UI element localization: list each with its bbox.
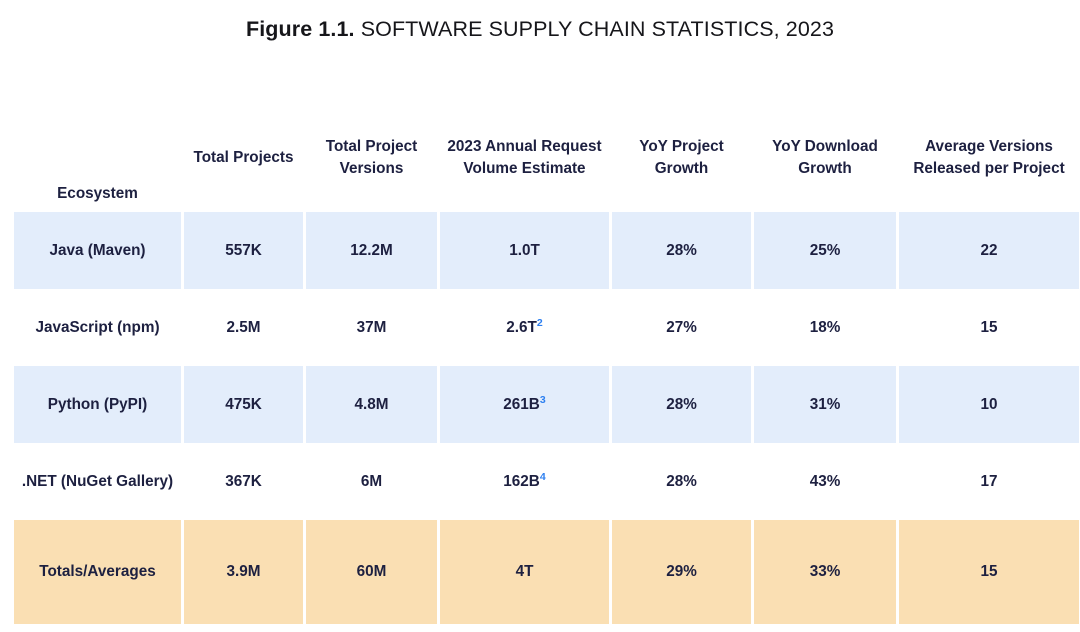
cell-yoy-download-growth: 31% (754, 366, 896, 443)
cell-request-volume-value: 4T (516, 563, 534, 580)
cell-request-volume: 1.0T (440, 212, 609, 289)
column-header-total-projects: Total Projects (184, 104, 303, 212)
figure-caption: SOFTWARE SUPPLY CHAIN STATISTICS, 2023 (361, 17, 834, 41)
cell-total-projects: 367K (184, 443, 303, 520)
cell-total-projects: 3.9M (184, 520, 303, 624)
table-row: Java (Maven) 557K 12.2M 1.0T 28% 25% 22 (14, 212, 1079, 289)
cell-yoy-download-growth: 33% (754, 520, 896, 624)
cell-request-volume: 162B4 (440, 443, 609, 520)
cell-request-volume: 2.6T2 (440, 289, 609, 366)
cell-ecosystem: Java (Maven) (14, 212, 181, 289)
cell-ecosystem: JavaScript (npm) (14, 289, 181, 366)
table-body: Java (Maven) 557K 12.2M 1.0T 28% 25% 22 … (14, 212, 1079, 624)
table-row: Python (PyPI) 475K 4.8M 261B3 28% 31% 10 (14, 366, 1079, 443)
cell-avg-versions-per-project: 15 (899, 520, 1079, 624)
table-header: Ecosystem Total Projects Total Project V… (14, 104, 1079, 212)
cell-yoy-download-growth: 43% (754, 443, 896, 520)
cell-request-volume-value: 2.6T (506, 319, 537, 336)
cell-total-project-versions: 4.8M (306, 366, 437, 443)
cell-avg-versions-per-project: 17 (899, 443, 1079, 520)
cell-total-project-versions: 60M (306, 520, 437, 624)
figure-title: Figure 1.1. SOFTWARE SUPPLY CHAIN STATIS… (0, 0, 1080, 42)
cell-total-projects: 2.5M (184, 289, 303, 366)
column-header-yoy-download-growth: YoY Download Growth (754, 104, 896, 212)
cell-total-project-versions: 12.2M (306, 212, 437, 289)
column-header-avg-versions-per-project: Average Versions Released per Project (899, 104, 1079, 212)
table-row-totals: Totals/Averages 3.9M 60M 4T 29% 33% 15 (14, 520, 1079, 624)
column-header-total-project-versions: Total Project Versions (306, 104, 437, 212)
column-header-request-volume-estimate: 2023 Annual Request Volume Estimate (440, 104, 609, 212)
cell-ecosystem: .NET (NuGet Gallery) (14, 443, 181, 520)
column-header-yoy-project-growth: YoY Project Growth (612, 104, 751, 212)
cell-request-volume-value: 261B (503, 396, 540, 413)
software-supply-chain-statistics-table: Ecosystem Total Projects Total Project V… (11, 104, 1080, 624)
table-row: .NET (NuGet Gallery) 367K 6M 162B4 28% 4… (14, 443, 1079, 520)
cell-yoy-project-growth: 29% (612, 520, 751, 624)
footnote-marker: 3 (540, 394, 546, 406)
cell-yoy-project-growth: 28% (612, 366, 751, 443)
table-row: JavaScript (npm) 2.5M 37M 2.6T2 27% 18% … (14, 289, 1079, 366)
footnote-marker: 4 (540, 471, 546, 483)
cell-yoy-project-growth: 27% (612, 289, 751, 366)
cell-avg-versions-per-project: 15 (899, 289, 1079, 366)
table-header-row: Ecosystem Total Projects Total Project V… (14, 104, 1079, 212)
cell-request-volume-value: 1.0T (509, 242, 540, 259)
cell-yoy-download-growth: 25% (754, 212, 896, 289)
cell-yoy-project-growth: 28% (612, 443, 751, 520)
cell-avg-versions-per-project: 22 (899, 212, 1079, 289)
cell-ecosystem: Totals/Averages (14, 520, 181, 624)
cell-total-projects: 557K (184, 212, 303, 289)
statistics-table-container: Ecosystem Total Projects Total Project V… (11, 104, 1068, 624)
cell-total-project-versions: 37M (306, 289, 437, 366)
footnote-marker: 2 (537, 317, 543, 329)
cell-request-volume-value: 162B (503, 473, 540, 490)
figure-label: Figure 1.1. (246, 17, 355, 41)
cell-ecosystem: Python (PyPI) (14, 366, 181, 443)
cell-request-volume: 4T (440, 520, 609, 624)
cell-avg-versions-per-project: 10 (899, 366, 1079, 443)
cell-yoy-project-growth: 28% (612, 212, 751, 289)
cell-request-volume: 261B3 (440, 366, 609, 443)
cell-total-project-versions: 6M (306, 443, 437, 520)
cell-total-projects: 475K (184, 366, 303, 443)
column-header-ecosystem: Ecosystem (14, 104, 181, 212)
cell-yoy-download-growth: 18% (754, 289, 896, 366)
